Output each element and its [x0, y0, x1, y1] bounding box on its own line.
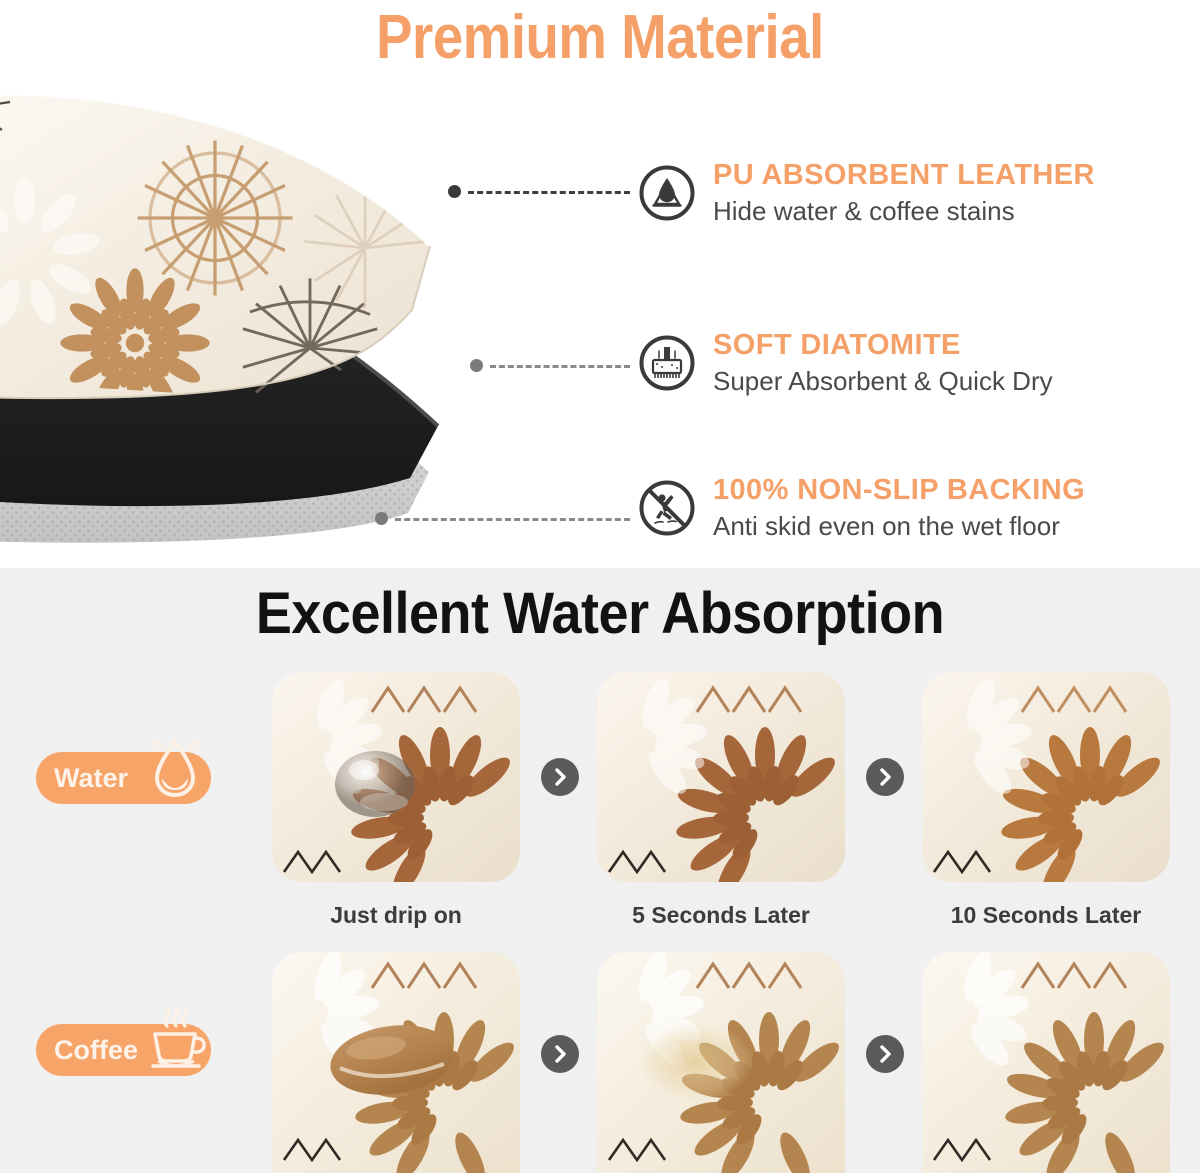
feature-subtitle: Anti skid even on the wet floor — [713, 509, 1085, 544]
feature-subtitle: Super Absorbent & Quick Dry — [713, 364, 1053, 399]
coffee-cup-icon — [145, 1008, 207, 1076]
feature-text-block: SOFT DIATOMITE Super Absorbent & Quick D… — [713, 330, 1053, 399]
feature-subtitle: Hide water & coffee stains — [713, 194, 1095, 229]
tile-water-step-2 — [597, 672, 845, 882]
feature-text-block: 100% NON-SLIP BACKING Anti skid even on … — [713, 475, 1085, 544]
chevron-right-icon — [550, 1044, 570, 1064]
caption-water-step-3: 10 Seconds Later — [922, 902, 1170, 929]
section-title: Excellent Water Absorption — [42, 580, 1158, 647]
leader-dot — [375, 512, 388, 525]
layered-bath-mat-cutaway-photo — [0, 78, 520, 548]
page-title: Premium Material — [72, 2, 1128, 73]
product-infographic-page: Premium Material — [0, 0, 1200, 1173]
feature-title: PU ABSORBENT LEATHER — [713, 160, 1095, 191]
chevron-right-icon — [875, 1044, 895, 1064]
tile-water-step-1 — [272, 672, 520, 882]
feature-pu-absorbent-leather: PU ABSORBENT LEATHER Hide water & coffee… — [638, 160, 1095, 229]
badge-label: Coffee — [54, 1035, 138, 1066]
tile-coffee-step-2 — [597, 952, 845, 1173]
feature-title: 100% NON-SLIP BACKING — [713, 475, 1085, 506]
caption-water-step-1: Just drip on — [272, 902, 520, 929]
leader-dot — [448, 185, 461, 198]
arrow-coffee-2-to-3 — [866, 1035, 904, 1073]
caption-water-step-2: 5 Seconds Later — [597, 902, 845, 929]
feature-soft-diatomite: SOFT DIATOMITE Super Absorbent & Quick D… — [638, 330, 1053, 399]
badge-water: Water — [36, 752, 211, 804]
chevron-right-icon — [550, 767, 570, 787]
feature-text-block: PU ABSORBENT LEATHER Hide water & coffee… — [713, 160, 1095, 229]
premium-material-section: Premium Material — [0, 0, 1200, 568]
absorbent-brush-icon — [638, 334, 696, 392]
arrow-water-1-to-2 — [541, 758, 579, 796]
tile-water-step-3 — [922, 672, 1170, 882]
badge-coffee: Coffee — [36, 1024, 211, 1076]
arrow-coffee-1-to-2 — [541, 1035, 579, 1073]
no-slip-person-icon — [638, 479, 696, 537]
tile-coffee-step-3 — [922, 952, 1170, 1173]
leader-dot — [470, 359, 483, 372]
arrow-water-2-to-3 — [866, 758, 904, 796]
feature-title: SOFT DIATOMITE — [713, 330, 1053, 361]
water-drop-icon — [147, 738, 203, 804]
tile-coffee-step-1 — [272, 952, 520, 1173]
water-drop-on-mat-icon — [638, 164, 696, 222]
feature-non-slip-backing: 100% NON-SLIP BACKING Anti skid even on … — [638, 475, 1085, 544]
chevron-right-icon — [875, 767, 895, 787]
badge-label: Water — [54, 763, 128, 794]
